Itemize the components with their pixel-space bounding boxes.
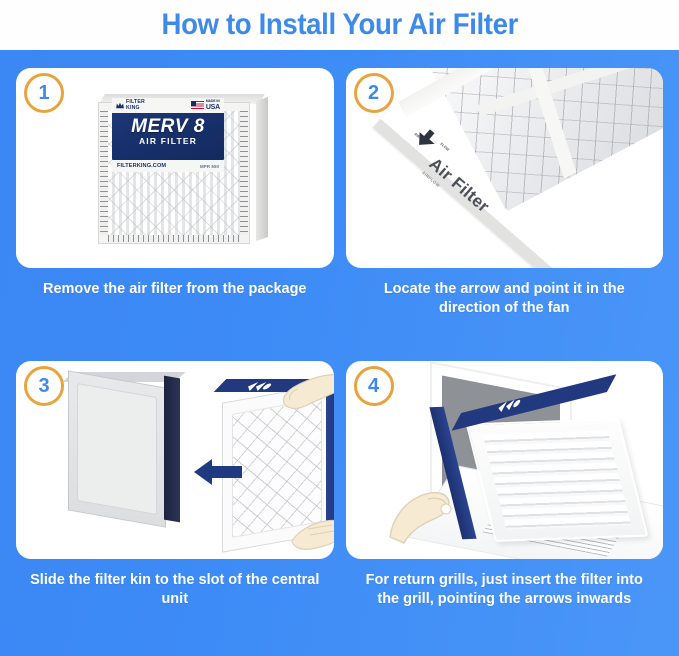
merv-rating-text: MERV 8 bbox=[112, 116, 224, 138]
step-image-1: MERV 8 AIR FILTER FILTER KING bbox=[16, 68, 334, 268]
grill-louvers bbox=[482, 430, 630, 529]
hand-top-icon bbox=[268, 371, 334, 417]
step-caption-1: Remove the air filter from the package bbox=[16, 280, 334, 299]
filter-pleat-bottom bbox=[108, 235, 240, 242]
filter-label-header-strip: FILTER KING MADE IN USA bbox=[112, 98, 224, 113]
insert-direction-arrow-icon bbox=[194, 457, 242, 487]
filter-label-footer-strip: FILTERKING.COM MPR 650 bbox=[112, 160, 224, 172]
air-filter-product-photo: MERV 8 AIR FILTER FILTER KING bbox=[98, 94, 268, 246]
usa-label: USA bbox=[206, 104, 220, 111]
step-panel-2: 2 AIR FLOW Air Filter bbox=[346, 68, 664, 355]
step-caption-3: Slide the filter kin to the slot of the … bbox=[16, 571, 334, 609]
filter-king-wordmark: FILTER KING bbox=[126, 100, 145, 111]
steps-grid: 1 MERV 8 AIR FILTER bbox=[0, 50, 679, 656]
page-title: How to Install Your Air Filter bbox=[161, 8, 517, 42]
step-caption-2: Locate the arrow and point it in the dir… bbox=[346, 280, 664, 318]
central-unit-dark-edge bbox=[164, 376, 180, 523]
airflow-label-right: FLOW bbox=[439, 142, 450, 152]
step-badge-3: 3 bbox=[24, 366, 64, 406]
mpr-rating-text: MPR 650 bbox=[200, 164, 219, 169]
slide-filter-illustration bbox=[16, 361, 334, 559]
website-text: FILTERKING.COM bbox=[117, 163, 166, 169]
air-filter-subtitle-text: AIR FILTER bbox=[112, 136, 224, 146]
crown-icon bbox=[116, 102, 124, 109]
us-flag-icon bbox=[191, 101, 204, 109]
brand-line-2: KING bbox=[126, 105, 140, 111]
central-unit-slot bbox=[77, 383, 157, 515]
infographic-root: How to Install Your Air Filter 1 bbox=[0, 0, 679, 656]
hand-inserting-filter-icon bbox=[388, 471, 474, 547]
step-badge-4: 4 bbox=[354, 366, 394, 406]
step-image-3 bbox=[16, 361, 334, 559]
step-card-1: 1 MERV 8 AIR FILTER bbox=[16, 68, 334, 268]
filter-side-edge bbox=[256, 97, 268, 241]
step-card-2: 2 AIR FLOW Air Filter bbox=[346, 68, 664, 268]
step-caption-4: For return grills, just insert the filte… bbox=[346, 571, 664, 609]
step-card-3: 3 bbox=[16, 361, 334, 559]
step-card-4: 4 bbox=[346, 361, 664, 559]
filter-king-logo: FILTER KING bbox=[116, 100, 145, 111]
step-panel-3: 3 bbox=[16, 361, 334, 648]
header-band: How to Install Your Air Filter bbox=[0, 0, 679, 50]
return-grill-door bbox=[465, 418, 648, 542]
filter-pleat-left bbox=[100, 111, 108, 235]
central-unit-body bbox=[68, 370, 166, 527]
step-badge-1: 1 bbox=[24, 73, 64, 113]
step-badge-2: 2 bbox=[354, 73, 394, 113]
made-in-usa-badge: MADE IN USA bbox=[191, 100, 220, 110]
step-panel-1: 1 MERV 8 AIR FILTER bbox=[16, 68, 334, 355]
step-panel-4: 4 bbox=[346, 361, 664, 648]
made-in-usa-text: MADE IN USA bbox=[206, 100, 220, 110]
hand-bottom-icon bbox=[288, 511, 334, 553]
filter-pleat-right bbox=[240, 111, 248, 235]
